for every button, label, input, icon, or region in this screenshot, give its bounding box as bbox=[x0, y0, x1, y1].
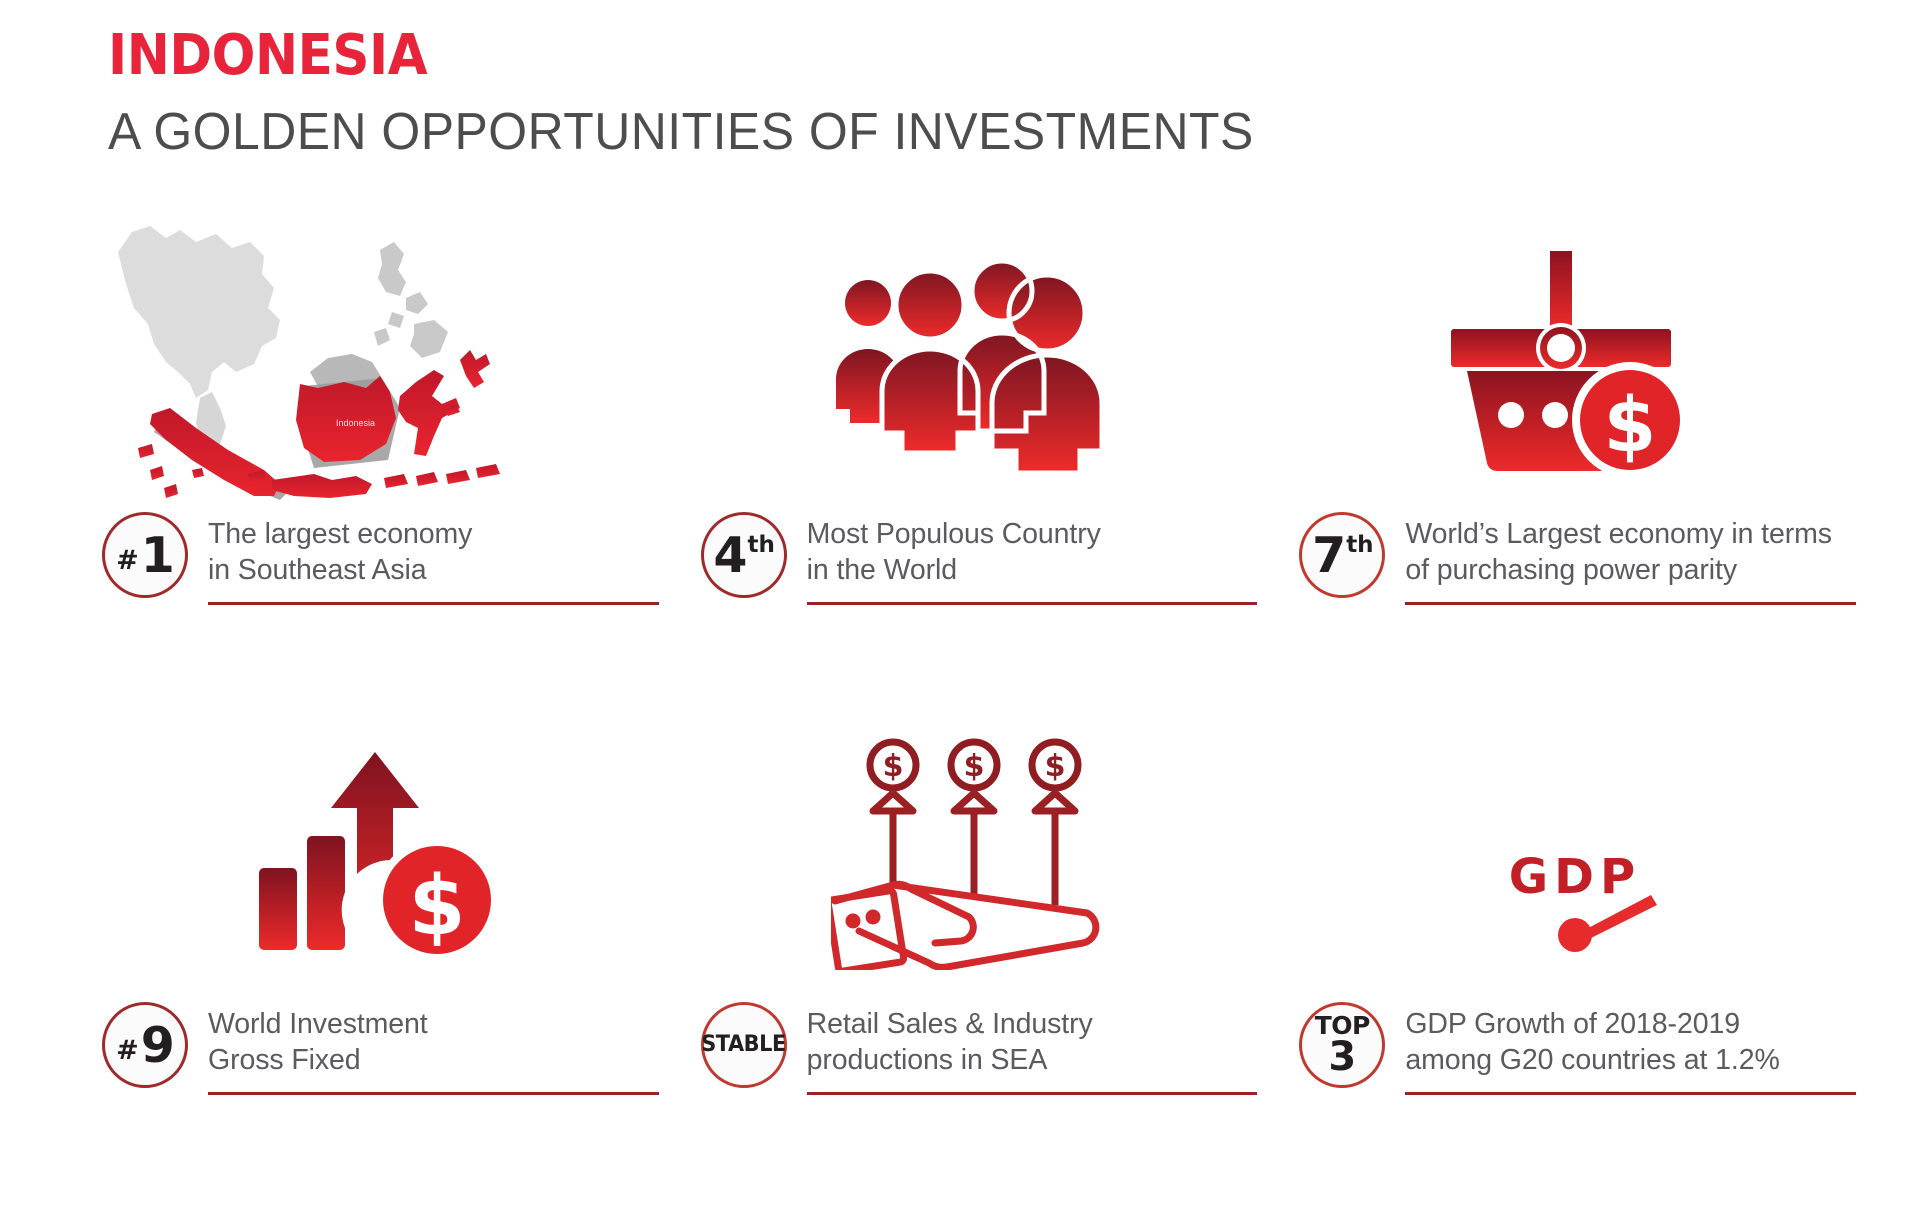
badge-value: 7 bbox=[1312, 531, 1345, 580]
fact-line: # 9 World Investment Gross Fixed bbox=[96, 1002, 659, 1095]
badge-value: 9 bbox=[141, 1021, 174, 1070]
stat-card-retail-sales: $ $ $ bbox=[695, 702, 1258, 1172]
page-subtitle: A GOLDEN OPPORTUNITIES OF INVESTMENTS bbox=[108, 106, 1254, 158]
rank-badge: 7 th bbox=[1299, 512, 1385, 598]
page-title: INDONESIA bbox=[108, 28, 1206, 84]
fact-text: The largest economy in Southeast Asia bbox=[208, 516, 659, 588]
fact-text-wrap: World Investment Gross Fixed bbox=[208, 1002, 659, 1095]
rank-badge: # 9 bbox=[102, 1002, 188, 1088]
southeast-asia-map-icon: Indonesia bbox=[96, 212, 659, 512]
underline-rule bbox=[807, 602, 1258, 605]
fact-text: World’s Largest economy in terms of purc… bbox=[1405, 516, 1856, 588]
rank-badge: STABLE bbox=[701, 1002, 787, 1088]
fact-text-wrap: Retail Sales & Industry productions in S… bbox=[807, 1002, 1258, 1095]
rank-badge: TOP 3 bbox=[1299, 1002, 1385, 1088]
fact-text-wrap: The largest economy in Southeast Asia bbox=[208, 512, 659, 605]
map-label: Indonesia bbox=[336, 418, 375, 428]
stat-card-most-populous: 4 th Most Populous Country in the World bbox=[695, 212, 1258, 682]
fact-text: World Investment Gross Fixed bbox=[208, 1006, 659, 1078]
underline-rule bbox=[1405, 602, 1856, 605]
fact-text: Most Populous Country in the World bbox=[807, 516, 1258, 588]
dollar-sign-icon: $ bbox=[1603, 380, 1656, 469]
badge-prefix: # bbox=[116, 1037, 139, 1064]
header: INDONESIA A GOLDEN OPPORTUNITIES OF INVE… bbox=[108, 28, 1302, 158]
fact-text-wrap: GDP Growth of 2018-2019 among G20 countr… bbox=[1405, 1002, 1856, 1095]
badge-suffix: th bbox=[748, 534, 775, 557]
shopping-basket-dollar-icon: $ bbox=[1293, 212, 1856, 512]
badge-value: STABLE bbox=[701, 1034, 786, 1056]
stat-card-largest-economy: Indonesia bbox=[96, 212, 659, 682]
underline-rule bbox=[807, 1092, 1258, 1095]
stat-card-gdp-growth: GDP TOP 3 GDP Growth of 2018-2019 among … bbox=[1293, 702, 1856, 1172]
underline-rule bbox=[208, 1092, 659, 1095]
badge-prefix: # bbox=[116, 547, 139, 574]
fact-line: 4 th Most Populous Country in the World bbox=[695, 512, 1258, 605]
dollar-sign-icon: $ bbox=[964, 749, 985, 784]
dollar-sign-icon: $ bbox=[883, 749, 904, 784]
underline-rule bbox=[208, 602, 659, 605]
fact-line: TOP 3 GDP Growth of 2018-2019 among G20 … bbox=[1293, 1002, 1856, 1095]
rank-badge: 4 th bbox=[701, 512, 787, 598]
infographic-page: INDONESIA A GOLDEN OPPORTUNITIES OF INVE… bbox=[0, 0, 1921, 1217]
underline-rule bbox=[1405, 1092, 1856, 1095]
badge-value: 3 bbox=[1328, 1038, 1356, 1076]
fact-line: # 1 The largest economy in Southeast Asi… bbox=[96, 512, 659, 605]
badge-suffix: th bbox=[1346, 534, 1373, 557]
dollar-sign-icon: $ bbox=[408, 859, 465, 954]
bar-chart-growth-dollar-icon: $ bbox=[96, 702, 659, 1002]
people-group-icon bbox=[695, 212, 1258, 512]
fact-line: 7 th World’s Largest economy in terms of… bbox=[1293, 512, 1856, 605]
stat-card-purchasing-power: $ 7 th World’s Largest economy in terms … bbox=[1293, 212, 1856, 682]
dollar-sign-icon: $ bbox=[1045, 749, 1066, 784]
fact-text: Retail Sales & Industry productions in S… bbox=[807, 1006, 1258, 1078]
badge-value: 4 bbox=[713, 531, 746, 580]
gdp-gauge-icon: GDP bbox=[1293, 702, 1856, 1002]
gauge-label: GDP bbox=[1508, 849, 1640, 905]
badge-value: 1 bbox=[141, 531, 174, 580]
fact-text-wrap: Most Populous Country in the World bbox=[807, 512, 1258, 605]
rank-badge: # 1 bbox=[102, 512, 188, 598]
fact-line: STABLE Retail Sales & Industry productio… bbox=[695, 1002, 1258, 1095]
stat-card-world-investment: $ # 9 World Investment Gross Fixed bbox=[96, 702, 659, 1172]
fact-text-wrap: World’s Largest economy in terms of purc… bbox=[1405, 512, 1856, 605]
fact-text: GDP Growth of 2018-2019 among G20 countr… bbox=[1405, 1006, 1856, 1078]
stats-grid: Indonesia bbox=[96, 212, 1856, 1172]
hand-rising-coins-icon: $ $ $ bbox=[695, 702, 1258, 1002]
